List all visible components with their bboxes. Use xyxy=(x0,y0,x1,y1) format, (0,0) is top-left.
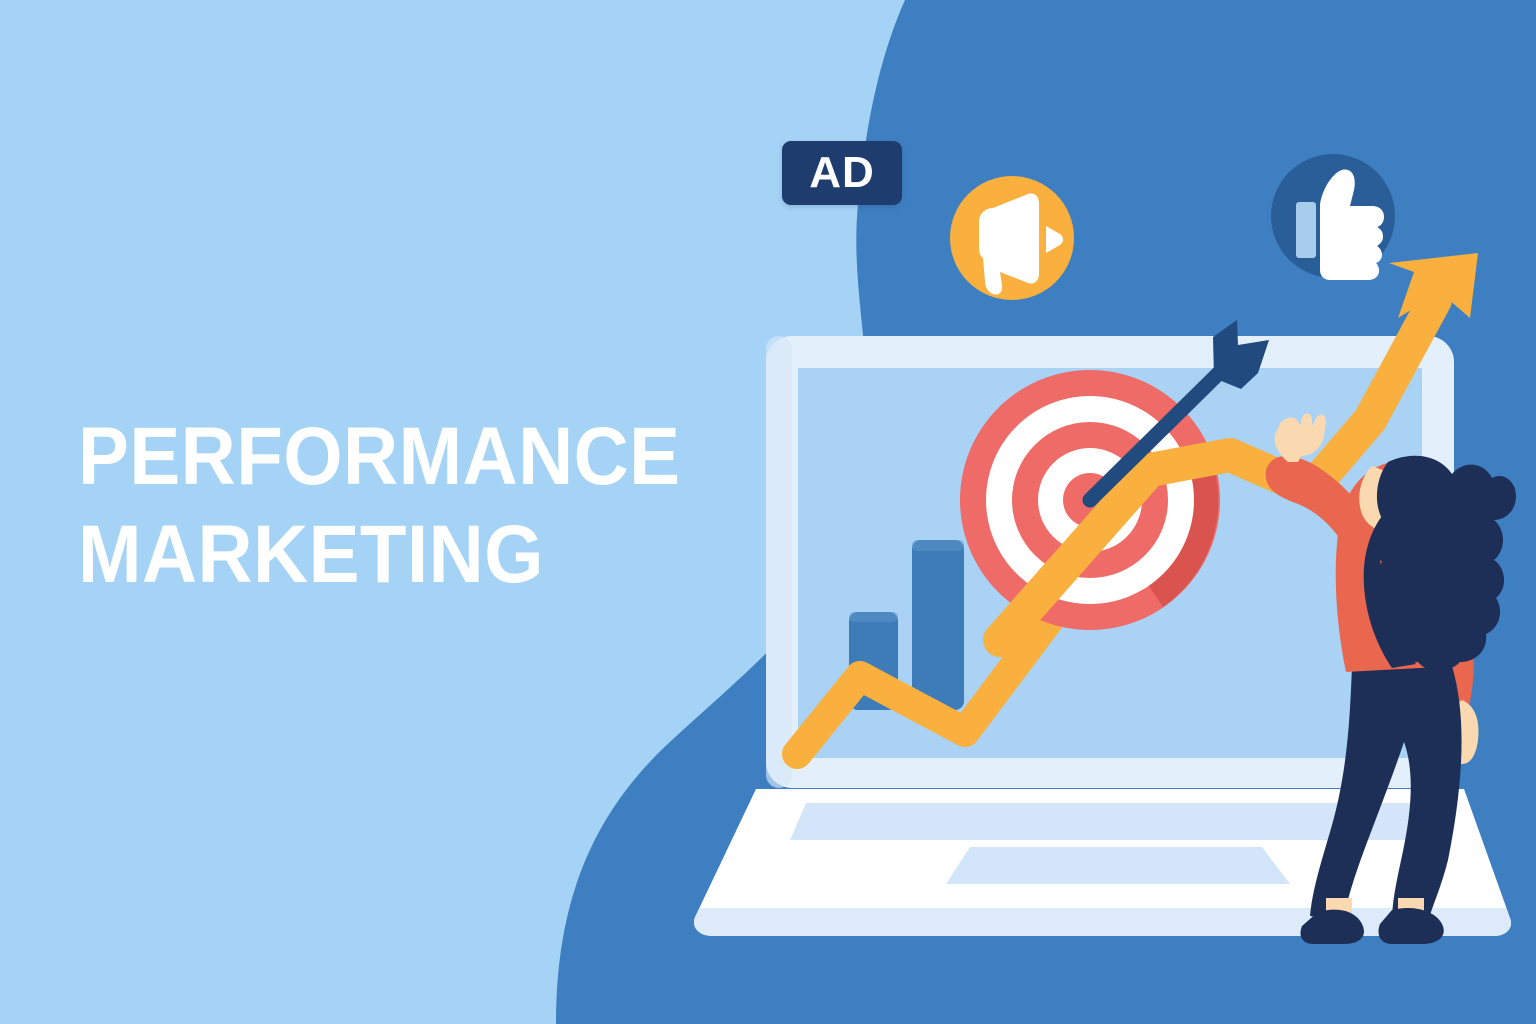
chart-bar-1-highlight xyxy=(849,612,898,622)
laptop-trackpad xyxy=(946,847,1290,884)
ad-badge[interactable]: AD xyxy=(782,141,902,205)
megaphone-icon xyxy=(950,176,1074,300)
chart-bar-2 xyxy=(912,540,964,710)
chart-bar-2-highlight xyxy=(912,540,964,551)
thumbs-up-icon-cuff xyxy=(1296,202,1316,258)
laptop-frame-shade xyxy=(766,336,792,788)
performance-marketing-banner: AD PERFORMANCE MARKETING xyxy=(0,0,1536,1024)
illustration-scene xyxy=(0,0,1536,1024)
ad-badge-label: AD xyxy=(809,151,875,195)
